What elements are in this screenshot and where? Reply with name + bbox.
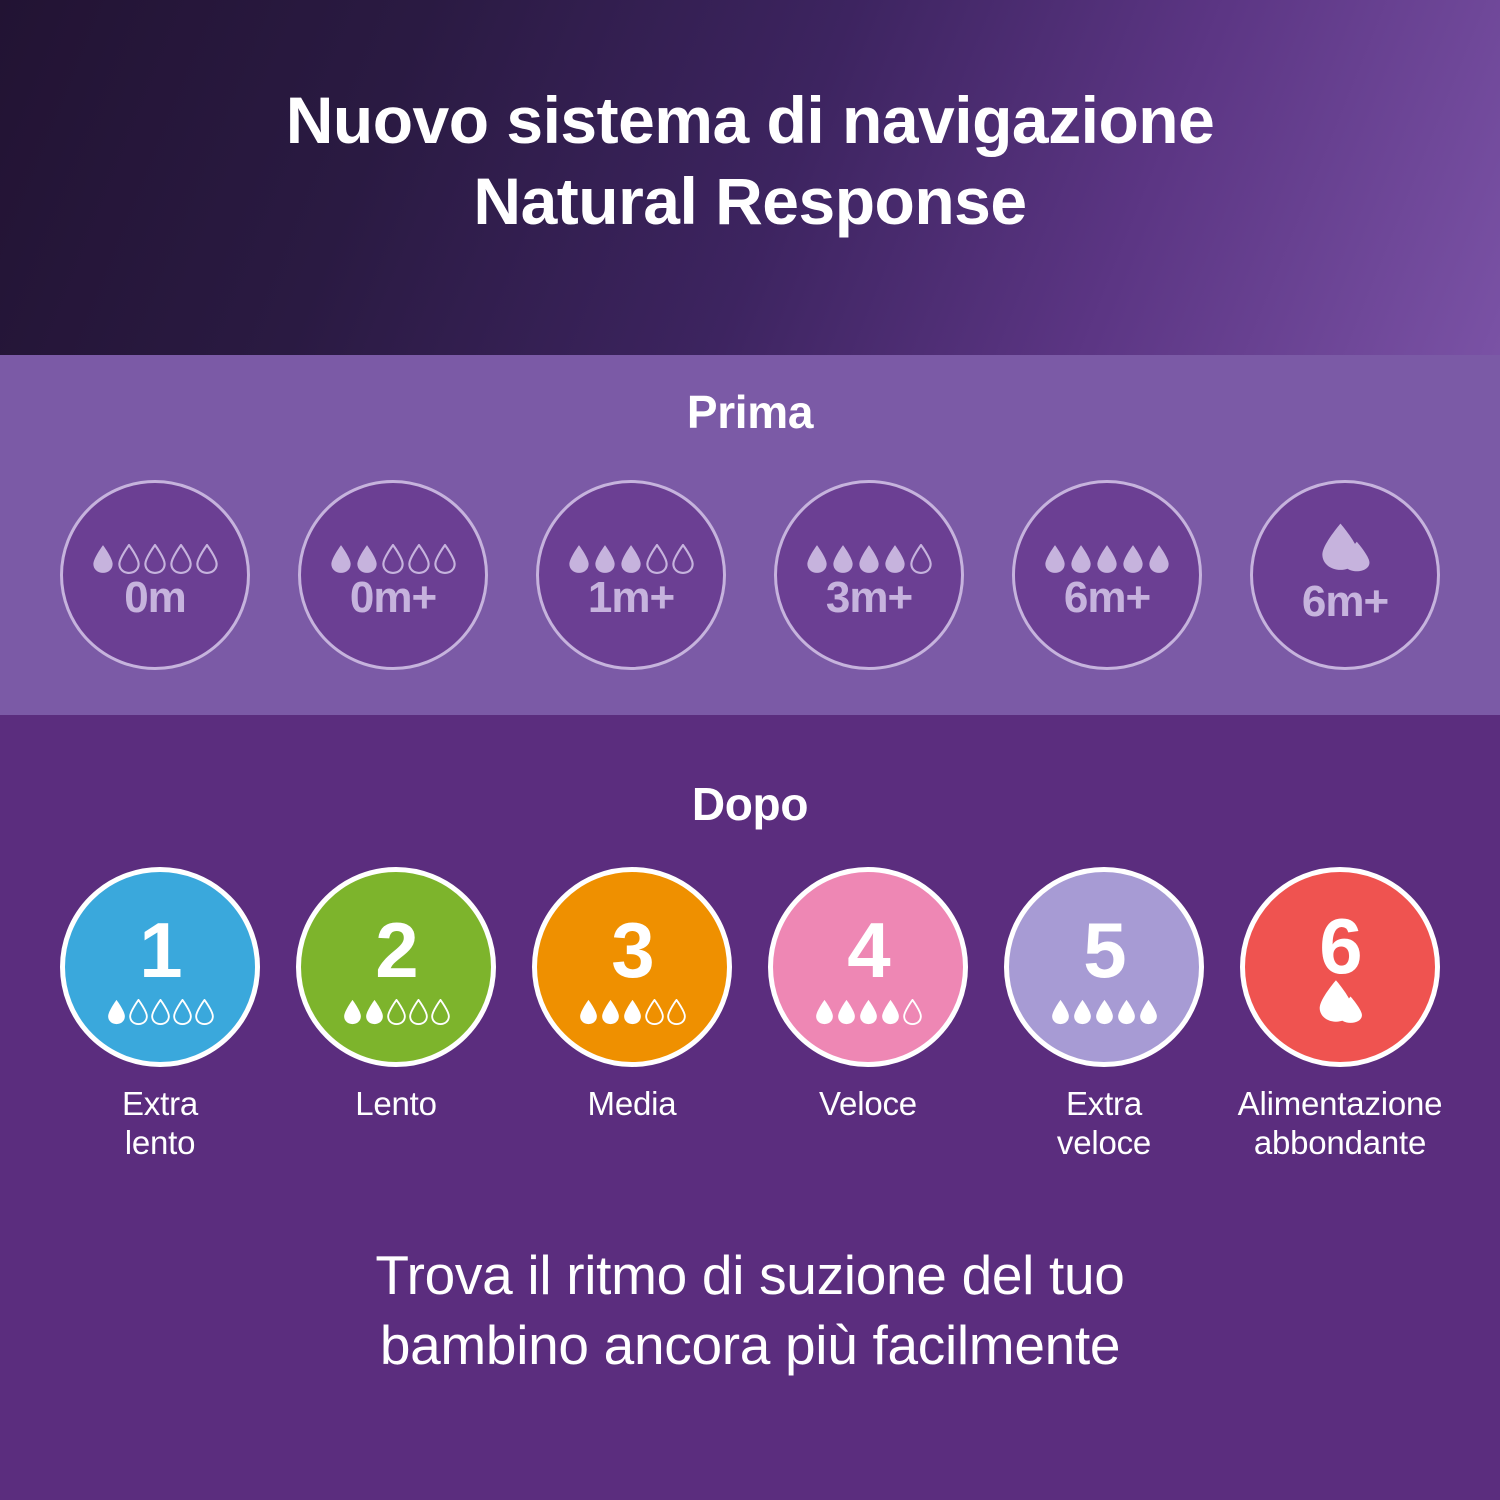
droplet-filled-icon xyxy=(837,999,856,1025)
after-flow-circle[interactable]: 4 xyxy=(768,867,968,1067)
before-flow-droplets xyxy=(92,530,218,574)
after-flow-icon xyxy=(1314,983,1366,1029)
before-flow-age-label: 1m+ xyxy=(588,576,674,620)
droplet-filled-icon xyxy=(330,544,352,574)
after-flow-label: Extra lento xyxy=(122,1085,198,1163)
droplet-filled-icon xyxy=(623,999,642,1025)
droplet-filled-icon xyxy=(1070,544,1092,574)
after-flow-circle[interactable]: 3 xyxy=(532,867,732,1067)
after-flow-item: 6Alimentazione abbondante xyxy=(1240,867,1440,1163)
tagline: Trova il ritmo di suzione del tuo bambin… xyxy=(0,1240,1500,1381)
before-flow-circle: 6m+ xyxy=(1012,480,1202,670)
droplet-filled-icon xyxy=(1095,999,1114,1025)
droplet-filled-icon xyxy=(881,999,900,1025)
before-flow-droplets xyxy=(1044,530,1170,574)
droplet-outline-icon xyxy=(645,999,664,1025)
page-title-line1: Nuovo sistema di navigazione xyxy=(286,83,1215,157)
after-flow-circle[interactable]: 1 xyxy=(60,867,260,1067)
droplet-filled-icon xyxy=(568,544,590,574)
before-flow-droplets xyxy=(568,530,694,574)
droplet-outline-icon xyxy=(387,999,406,1025)
after-flow-circle[interactable]: 2 xyxy=(296,867,496,1067)
droplet-filled-icon xyxy=(343,999,362,1025)
after-flow-number: 3 xyxy=(611,913,652,987)
before-circles-row: 0m0m+1m+3m+6m+6m+ xyxy=(60,480,1440,670)
droplet-filled-icon xyxy=(107,999,126,1025)
droplet-outline-icon xyxy=(408,544,430,574)
droplet-outline-icon xyxy=(409,999,428,1025)
after-flow-droplets xyxy=(815,991,922,1025)
before-flow-age-label: 6m+ xyxy=(1302,580,1388,624)
infographic-page: Nuovo sistema di navigazione Natural Res… xyxy=(0,0,1500,1500)
droplet-filled-icon xyxy=(815,999,834,1025)
droplet-filled-icon xyxy=(365,999,384,1025)
droplet-outline-icon xyxy=(382,544,404,574)
after-flow-item: 4Veloce xyxy=(768,867,968,1124)
before-flow-circle: 6m+ xyxy=(1250,480,1440,670)
after-flow-label: Alimentazione abbondante xyxy=(1190,1085,1490,1163)
droplet-filled-icon xyxy=(1051,999,1070,1025)
droplet-outline-icon xyxy=(118,544,140,574)
after-flow-number: 4 xyxy=(847,913,888,987)
before-flow-age-label: 0m+ xyxy=(350,576,436,620)
droplet-filled-icon xyxy=(806,544,828,574)
after-flow-droplets xyxy=(1051,991,1158,1025)
page-title-line2: Natural Response xyxy=(90,161,1410,242)
droplet-outline-icon xyxy=(170,544,192,574)
after-flow-droplets xyxy=(579,991,686,1025)
before-section-heading: Prima xyxy=(0,355,1500,439)
after-section-heading: Dopo xyxy=(0,715,1500,831)
tagline-line2: bambino ancora più facilmente xyxy=(120,1310,1380,1380)
droplet-filled-icon xyxy=(601,999,620,1025)
before-flow-age-label: 6m+ xyxy=(1064,576,1150,620)
after-flow-label: Veloce xyxy=(819,1085,917,1124)
droplet-outline-icon xyxy=(910,544,932,574)
after-flow-number: 6 xyxy=(1319,909,1360,983)
after-section: Dopo 1Extra lento2Lento3Media4Veloce5Ext… xyxy=(0,715,1500,1500)
droplet-outline-icon xyxy=(144,544,166,574)
after-flow-label: Media xyxy=(588,1085,677,1124)
droplet-filled-icon xyxy=(356,544,378,574)
after-circles-row: 1Extra lento2Lento3Media4Veloce5Extra ve… xyxy=(60,867,1440,1163)
droplet-filled-icon xyxy=(1096,544,1118,574)
droplet-outline-icon xyxy=(667,999,686,1025)
droplet-outline-icon xyxy=(151,999,170,1025)
after-flow-circle[interactable]: 5 xyxy=(1004,867,1204,1067)
after-flow-item: 5Extra veloce xyxy=(1004,867,1204,1163)
droplet-filled-icon xyxy=(1044,544,1066,574)
before-flow-droplets xyxy=(806,530,932,574)
before-flow-age-label: 0m xyxy=(124,576,186,620)
droplet-filled-icon xyxy=(1122,544,1144,574)
tagline-line1: Trova il ritmo di suzione del tuo xyxy=(375,1244,1124,1306)
after-flow-droplets xyxy=(107,991,214,1025)
droplet-filled-icon xyxy=(594,544,616,574)
droplet-outline-icon xyxy=(173,999,192,1025)
before-flow-age-label: 3m+ xyxy=(826,576,912,620)
droplet-filled-icon xyxy=(884,544,906,574)
droplet-outline-icon xyxy=(195,999,214,1025)
droplet-filled-icon xyxy=(579,999,598,1025)
before-section: Prima 0m0m+1m+3m+6m+6m+ xyxy=(0,355,1500,715)
thick-feed-double-droplet-icon xyxy=(1316,520,1374,578)
droplet-filled-icon xyxy=(858,544,880,574)
droplet-filled-icon xyxy=(1117,999,1136,1025)
after-flow-item: 2Lento xyxy=(296,867,496,1124)
before-flow-circle: 3m+ xyxy=(774,480,964,670)
droplet-filled-icon xyxy=(832,544,854,574)
droplet-outline-icon xyxy=(434,544,456,574)
before-flow-circle: 0m xyxy=(60,480,250,670)
after-flow-number: 1 xyxy=(139,913,180,987)
droplet-outline-icon xyxy=(672,544,694,574)
after-flow-label: Lento xyxy=(355,1085,437,1124)
after-flow-droplets xyxy=(343,991,450,1025)
after-flow-item: 3Media xyxy=(532,867,732,1124)
before-flow-droplets xyxy=(330,530,456,574)
droplet-filled-icon xyxy=(859,999,878,1025)
droplet-outline-icon xyxy=(196,544,218,574)
after-flow-label: Extra veloce xyxy=(1057,1085,1151,1163)
after-flow-number: 5 xyxy=(1083,913,1124,987)
header-banner: Nuovo sistema di navigazione Natural Res… xyxy=(0,0,1500,355)
before-flow-circle: 1m+ xyxy=(536,480,726,670)
droplet-filled-icon xyxy=(1148,544,1170,574)
thick-feed-double-droplet-icon xyxy=(1314,977,1366,1029)
before-flow-circle: 0m+ xyxy=(298,480,488,670)
droplet-filled-icon xyxy=(620,544,642,574)
after-flow-item: 1Extra lento xyxy=(60,867,260,1163)
droplet-filled-icon xyxy=(92,544,114,574)
after-flow-circle[interactable]: 6 xyxy=(1240,867,1440,1067)
droplet-outline-icon xyxy=(903,999,922,1025)
droplet-filled-icon xyxy=(1073,999,1092,1025)
page-title: Nuovo sistema di navigazione Natural Res… xyxy=(0,80,1500,241)
droplet-outline-icon xyxy=(646,544,668,574)
droplet-outline-icon xyxy=(129,999,148,1025)
before-flow-icon xyxy=(1316,526,1374,578)
droplet-filled-icon xyxy=(1139,999,1158,1025)
droplet-outline-icon xyxy=(431,999,450,1025)
after-flow-number: 2 xyxy=(375,913,416,987)
